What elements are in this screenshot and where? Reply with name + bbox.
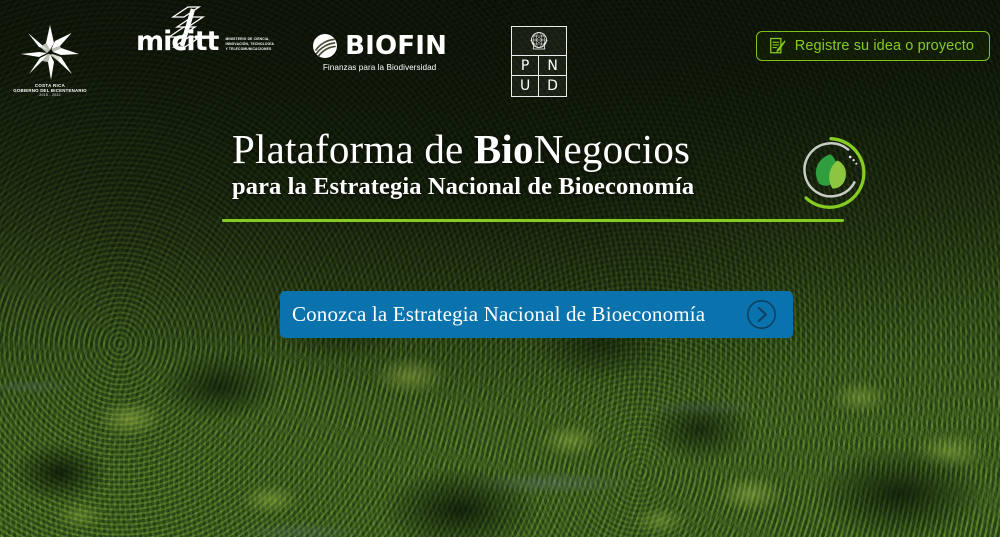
- strategy-cta-label: Conozca la Estrategia Nacional de Bioeco…: [292, 302, 705, 327]
- micitt-sub-line3: Y TELECOMUNICACIONES: [225, 47, 274, 52]
- micitt-sub-line2: INNOVACIÓN, TECNOLOGÍA: [225, 42, 274, 47]
- micitt-mark-icon: [162, 4, 210, 50]
- strategy-cta-button[interactable]: Conozca la Estrategia Nacional de Bioeco…: [280, 291, 793, 338]
- biofin-row: BIOFIN: [312, 33, 447, 59]
- costa-rica-logo-text: COSTA RICA GOBIERNO DEL BICENTENARIO 201…: [13, 83, 86, 97]
- hero-banner: COSTA RICA GOBIERNO DEL BICENTENARIO 201…: [0, 0, 1000, 537]
- pnud-emblem-cell: [512, 27, 566, 56]
- micitt-subtitle: MINISTERIO DE CIENCIA, INNOVACIÓN, TECNO…: [225, 37, 274, 51]
- site-header: COSTA RICA GOBIERNO DEL BICENTENARIO 201…: [0, 0, 1000, 108]
- partner-logos: COSTA RICA GOBIERNO DEL BICENTENARIO 201…: [0, 0, 567, 97]
- hero-title-text: Plataforma de BioNegocios para la Estrat…: [222, 128, 694, 201]
- bioeconomia-leaf-circle-icon: [792, 134, 870, 212]
- pnud-letter-u: U: [512, 76, 539, 96]
- hero-title-block: Plataforma de BioNegocios para la Estrat…: [222, 128, 862, 222]
- pnud-box: P N U D: [511, 26, 567, 97]
- title-bold: Bio: [474, 126, 534, 172]
- un-emblem-icon: [527, 29, 551, 53]
- biofin-wordmark: BIOFIN: [345, 33, 447, 59]
- title-tail: Negocios: [534, 126, 690, 172]
- title-lead: Plataforma de: [232, 126, 474, 172]
- hero-title-row: Plataforma de BioNegocios para la Estrat…: [222, 128, 862, 212]
- biofin-tagline: Finanzas para la Biodiversidad: [323, 63, 436, 72]
- pnud-letter-n: N: [539, 56, 566, 76]
- register-idea-label: Registre su idea o proyecto: [795, 38, 974, 54]
- register-idea-button[interactable]: Registre su idea o proyecto: [756, 31, 990, 61]
- logo-pnud[interactable]: P N U D: [511, 0, 567, 97]
- logo-biofin[interactable]: BIOFIN Finanzas para la Biodiversidad: [312, 0, 447, 72]
- logo-costa-rica-government[interactable]: COSTA RICA GOBIERNO DEL BICENTENARIO 201…: [0, 0, 100, 97]
- pnud-letter-p: P: [512, 56, 539, 76]
- logo-micitt[interactable]: micitt MINISTERIO DE CIENCIA, INNOVACIÓN…: [136, 0, 274, 54]
- costa-rica-star-icon: [20, 24, 80, 80]
- costa-rica-line3: 2018 - 2022: [13, 93, 86, 97]
- chevron-right-circle-icon: [746, 299, 777, 330]
- title-underline-rule: [222, 219, 844, 222]
- biofin-swirl-icon: [312, 33, 338, 59]
- page-title: Plataforma de BioNegocios: [232, 128, 694, 171]
- document-pencil-icon: [769, 37, 786, 55]
- pnud-letter-grid: P N U D: [512, 56, 566, 96]
- page-subtitle: para la Estrategia Nacional de Bioeconom…: [232, 173, 694, 201]
- pnud-letter-d: D: [539, 76, 566, 96]
